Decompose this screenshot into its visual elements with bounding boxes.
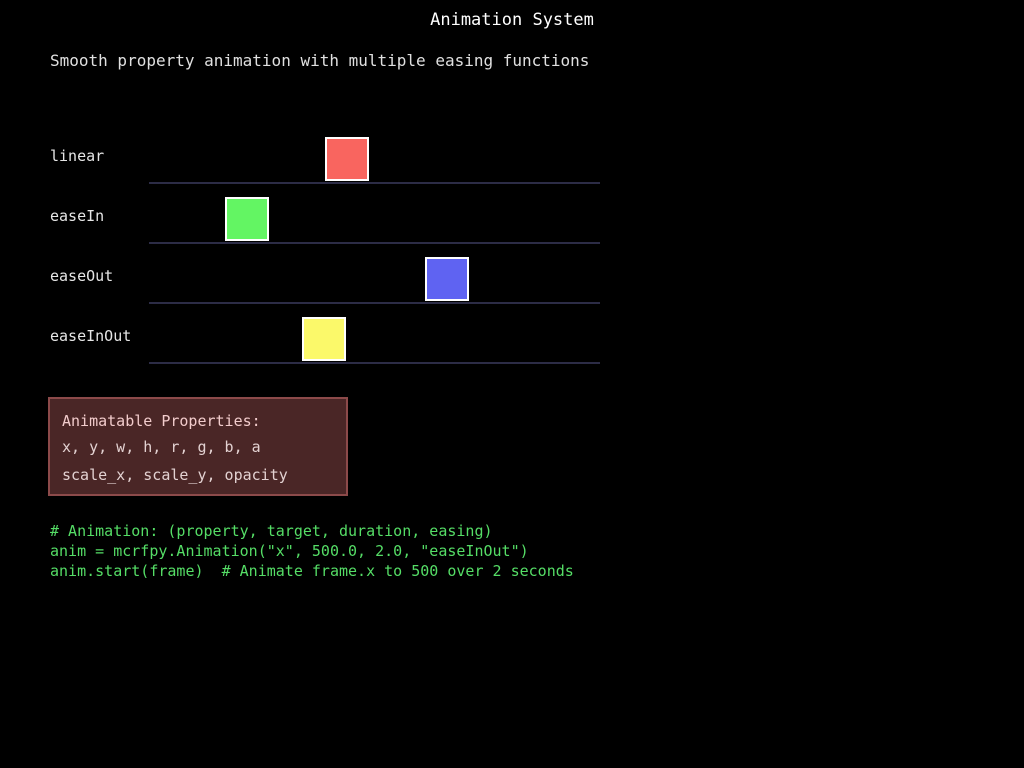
code-sample: # Animation: (property, target, duration… [50, 521, 574, 581]
code-line-start: anim.start(frame) # Animate frame.x to 5… [50, 561, 574, 581]
easing-swatch-easeout[interactable] [425, 257, 469, 301]
easing-label-easeinout: easeInOut [50, 326, 131, 346]
animatable-properties-panel: Animatable Properties: x, y, w, h, r, g,… [48, 397, 348, 496]
code-line-construct: anim = mcrfpy.Animation("x", 500.0, 2.0,… [50, 541, 574, 561]
easing-rule-linear [149, 182, 600, 184]
easing-rule-easein [149, 242, 600, 244]
easing-label-easein: easeIn [50, 206, 104, 226]
easing-swatch-linear[interactable] [325, 137, 369, 181]
animatable-properties-line-2: scale_x, scale_y, opacity [62, 465, 288, 485]
easing-swatch-easeinout[interactable] [302, 317, 346, 361]
easing-rule-easeout [149, 302, 600, 304]
easing-label-linear: linear [50, 146, 104, 166]
animation-demo-screen: Animation System Smooth property animati… [0, 0, 1024, 768]
animatable-properties-heading: Animatable Properties: [62, 411, 261, 431]
animatable-properties-line-1: x, y, w, h, r, g, b, a [62, 437, 261, 457]
code-line-comment: # Animation: (property, target, duration… [50, 521, 574, 541]
easing-rule-easeinout [149, 362, 600, 364]
easing-label-easeout: easeOut [50, 266, 113, 286]
easing-track-easeinout: easeInOut [0, 0, 1024, 60]
easing-swatch-easein[interactable] [225, 197, 269, 241]
